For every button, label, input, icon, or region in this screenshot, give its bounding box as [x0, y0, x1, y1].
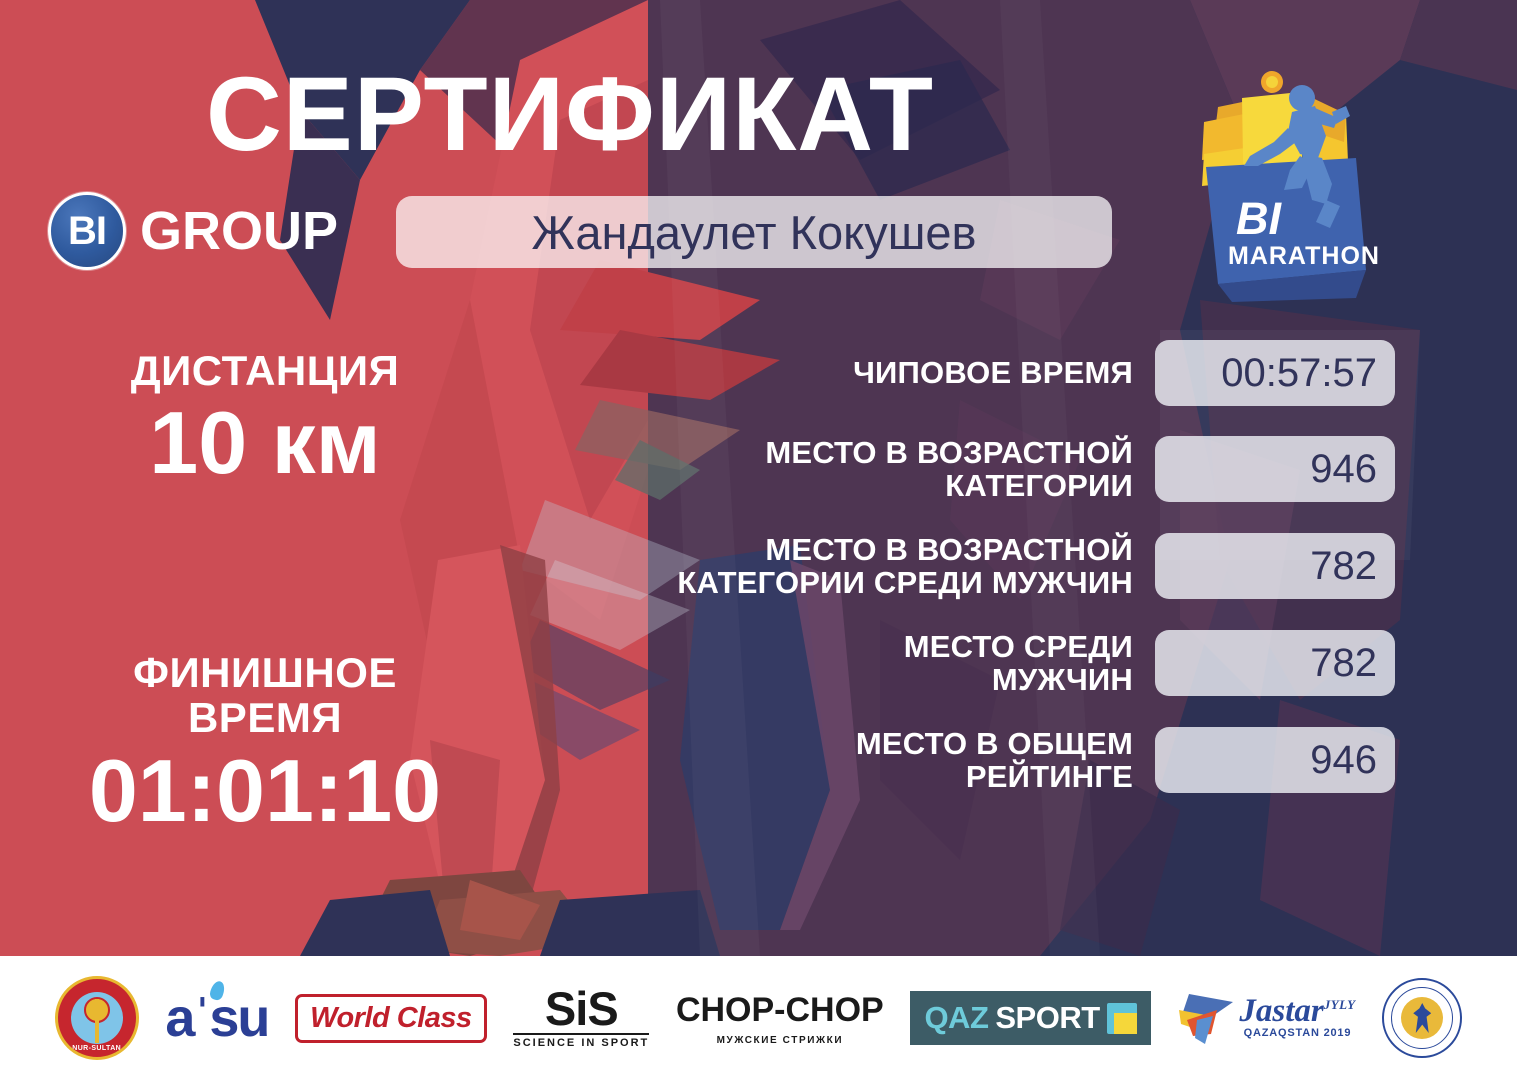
jastar-name: Jastar: [1239, 993, 1323, 1029]
participant-name: Жандаулет Кокушев: [531, 205, 976, 260]
page-title: СЕРТИФИКАТ: [0, 62, 1140, 167]
stat-row-overall-place: МЕСТО В ОБЩЕМ РЕЙТИНГЕ 946: [600, 727, 1395, 794]
sponsor-jastar: JastarJYLY QAZAQSTAN 2019: [1177, 972, 1355, 1064]
certificate-canvas: СЕРТИФИКАТ BI GROUP Жандаулет Кокушев: [0, 0, 1517, 1080]
sis-tagline: SCIENCE IN SPORT: [513, 1033, 649, 1049]
stat-value-box: 946: [1155, 436, 1395, 502]
results-list: ЧИПОВОЕ ВРЕМЯ 00:57:57 МЕСТО В ВОЗРАСТНО…: [600, 340, 1400, 794]
world-class-label: World Class: [310, 1002, 472, 1035]
jastar-text: JastarJYLY QAZAQSTAN 2019: [1239, 997, 1355, 1040]
sponsor-qazsport: QAZ SPORT: [910, 972, 1150, 1064]
stat-value: 782: [1310, 641, 1377, 686]
sis-wordmark: SiS SCIENCE IN SPORT: [513, 987, 649, 1050]
chop-chop-wordmark: CHOP-CHOP МУЖСКИЕ СТРИЖКИ: [676, 991, 884, 1046]
sponsor-nur-sultan: NUR-SULTAN: [55, 972, 139, 1064]
bi-marathon-emblem-icon: BI MARATHON: [1180, 62, 1395, 307]
stat-row-chip-time: ЧИПОВОЕ ВРЕМЯ 00:57:57: [600, 340, 1395, 406]
bi-group-logo: BI GROUP: [48, 192, 338, 270]
sis-label: SiS: [513, 987, 649, 1032]
chop-chop-label: CHOP-CHOP: [676, 991, 884, 1030]
world-class-frame: World Class: [295, 994, 487, 1043]
stat-label: МЕСТО СРЕДИ МУЖЧИН: [600, 630, 1155, 697]
qazsport-label-a: QAZ: [924, 1000, 988, 1036]
distance-label: ДИСТАНЦИЯ: [30, 348, 500, 393]
stat-value: 946: [1310, 447, 1377, 492]
ministry-seal-center: [1401, 997, 1443, 1039]
qazsport-label-b: SPORT: [995, 1000, 1099, 1036]
jastar-wordmark: JastarJYLY QAZAQSTAN 2019: [1177, 990, 1355, 1046]
stat-row-men-place: МЕСТО СРЕДИ МУЖЧИН 782: [600, 630, 1395, 697]
stat-label: МЕСТО В ОБЩЕМ РЕЙТИНГЕ: [600, 727, 1155, 794]
svg-text:BI: BI: [1236, 193, 1282, 244]
stat-label: ЧИПОВОЕ ВРЕМЯ: [600, 356, 1155, 389]
bi-badge-icon: BI: [48, 192, 126, 270]
svg-text:MARATHON: MARATHON: [1228, 242, 1380, 270]
finish-time-block: ФИНИШНОЕ ВРЕМЯ 01:01:10: [30, 650, 500, 838]
nur-sultan-label: NUR-SULTAN: [58, 1045, 136, 1052]
chop-chop-tagline: МУЖСКИЕ СТРИЖКИ: [676, 1035, 884, 1046]
stat-value-box: 782: [1155, 630, 1395, 696]
jastar-arrow-icon: [1177, 990, 1235, 1046]
bi-marathon-logo: BI MARATHON: [1180, 62, 1395, 307]
stat-row-age-category-place: МЕСТО В ВОЗРАСТНОЙ КАТЕГОРИИ 946: [600, 436, 1395, 503]
nur-sultan-emblem-icon: NUR-SULTAN: [55, 976, 139, 1060]
sponsor-asu: aˈsu: [165, 972, 268, 1064]
ministry-figure-icon: [1413, 1003, 1431, 1033]
stat-label: МЕСТО В ВОЗРАСТНОЙ КАТЕГОРИИ СРЕДИ МУЖЧИ…: [600, 533, 1155, 600]
distance-block: ДИСТАНЦИЯ 10 км: [30, 348, 500, 490]
stat-value: 00:57:57: [1221, 351, 1377, 396]
ministry-seal-icon: [1382, 978, 1462, 1058]
bi-group-wordmark: GROUP: [140, 200, 338, 262]
sponsor-bar: NUR-SULTAN aˈsu World Class SiS SCIENCE …: [0, 956, 1517, 1080]
finish-time-label: ФИНИШНОЕ ВРЕМЯ: [30, 650, 500, 741]
stat-value: 782: [1310, 544, 1377, 589]
qazsport-flag-icon: [1107, 1003, 1137, 1034]
stat-value-box: 00:57:57: [1155, 340, 1395, 406]
sponsor-ministry: [1382, 972, 1462, 1064]
jastar-sup: JYLY: [1324, 997, 1356, 1012]
stat-value-box: 946: [1155, 727, 1395, 793]
stat-row-age-category-men-place: МЕСТО В ВОЗРАСТНОЙ КАТЕГОРИИ СРЕДИ МУЖЧИ…: [600, 533, 1395, 600]
jastar-sub: QAZAQSTAN 2019: [1239, 1027, 1355, 1039]
nur-sultan-ornament-icon: [84, 997, 110, 1023]
stat-value: 946: [1310, 738, 1377, 783]
participant-name-field: Жандаулет Кокушев: [396, 196, 1112, 268]
stat-label: МЕСТО В ВОЗРАСТНОЙ КАТЕГОРИИ: [600, 436, 1155, 503]
stat-value-box: 782: [1155, 533, 1395, 599]
sponsor-world-class: World Class: [295, 972, 487, 1064]
asu-wordmark: aˈsu: [165, 987, 268, 1049]
finish-time-value: 01:01:10: [30, 743, 500, 838]
qazsport-wordmark: QAZ SPORT: [910, 991, 1150, 1045]
sponsor-sis: SiS SCIENCE IN SPORT: [513, 972, 649, 1064]
sponsor-chop-chop: CHOP-CHOP МУЖСКИЕ СТРИЖКИ: [676, 972, 884, 1064]
jastar-label: JastarJYLY: [1239, 997, 1355, 1027]
distance-value: 10 км: [30, 395, 500, 490]
